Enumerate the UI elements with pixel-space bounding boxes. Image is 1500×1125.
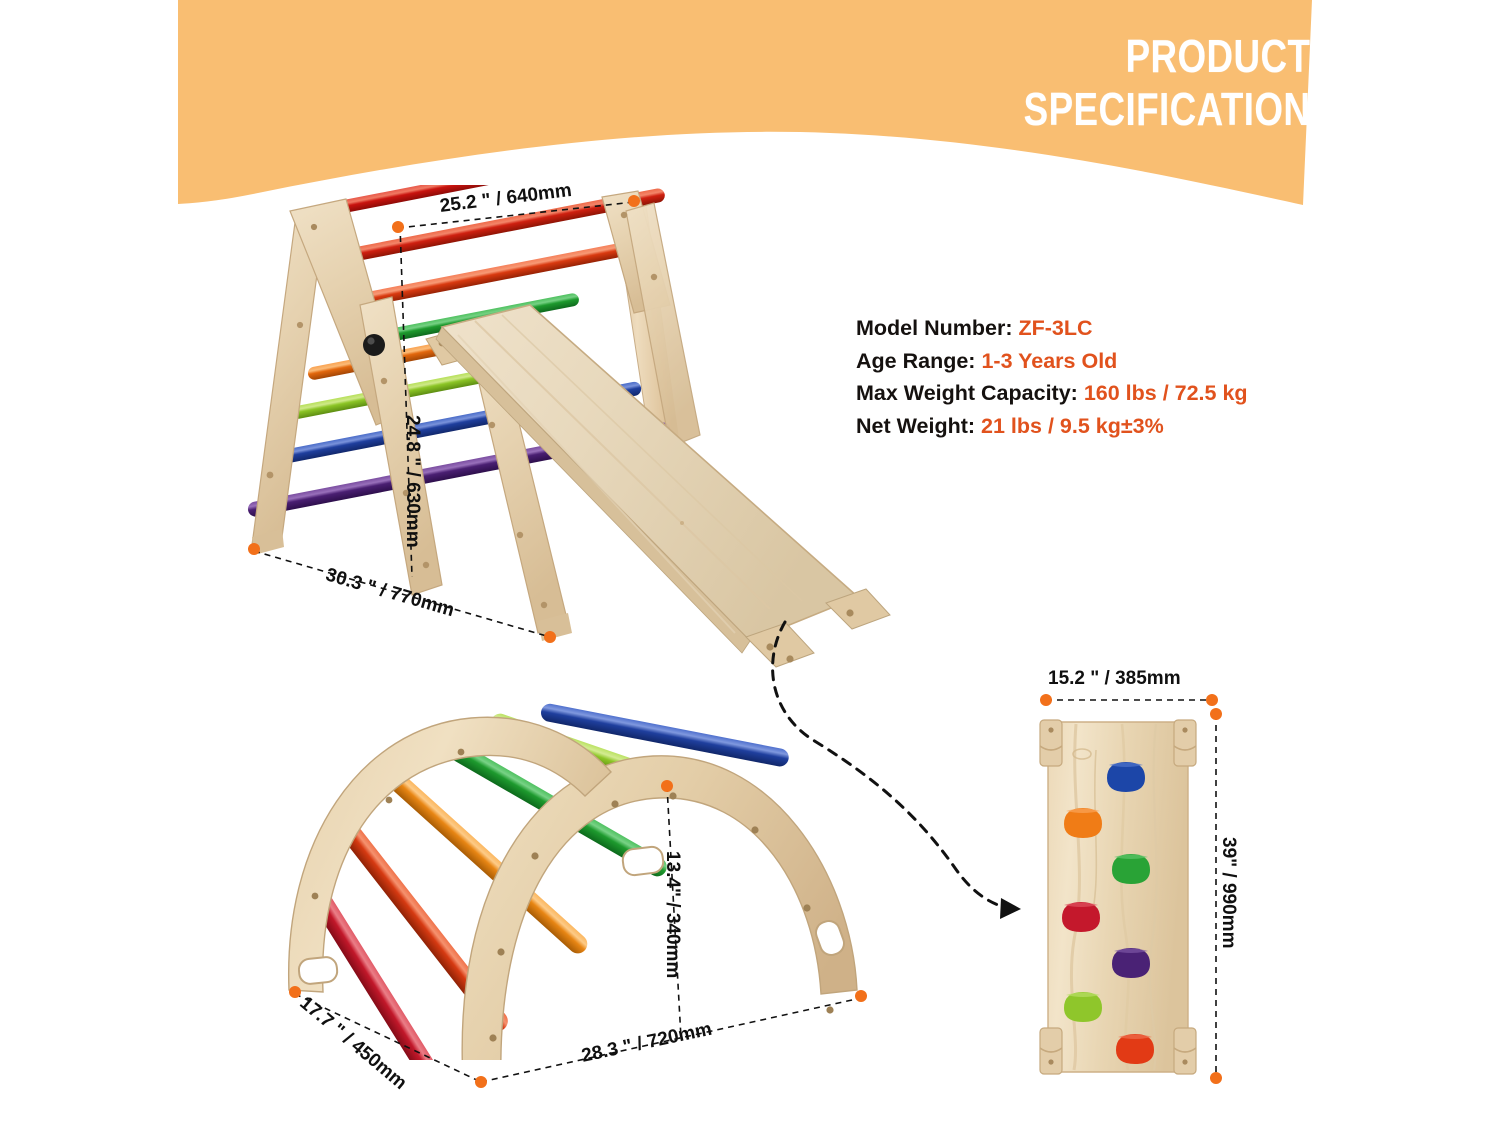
product-spec-sheet: PRODUCT SPECIFICATION Model Number: ZF-3…: [0, 0, 1500, 1125]
dim-board-width: 15.2 " / 385mm: [1048, 668, 1181, 690]
dim-arch-height: 13.4" / 340mm: [661, 851, 683, 978]
spec-value-max-weight: 160 lbs / 72.5 kg: [1084, 381, 1248, 405]
dim-board-length: 39" / 990mm: [1217, 837, 1239, 948]
header-banner: PRODUCT SPECIFICATION: [0, 0, 1500, 215]
curved-arrow-icon: [755, 620, 1075, 940]
page-title-line1: PRODUCT: [1125, 30, 1310, 82]
page-title: PRODUCT SPECIFICATION: [1023, 30, 1310, 137]
dim-triangle-height: 24.8 " / 630mm: [401, 415, 423, 548]
page-title-line2: SPECIFICATION: [1023, 83, 1310, 136]
